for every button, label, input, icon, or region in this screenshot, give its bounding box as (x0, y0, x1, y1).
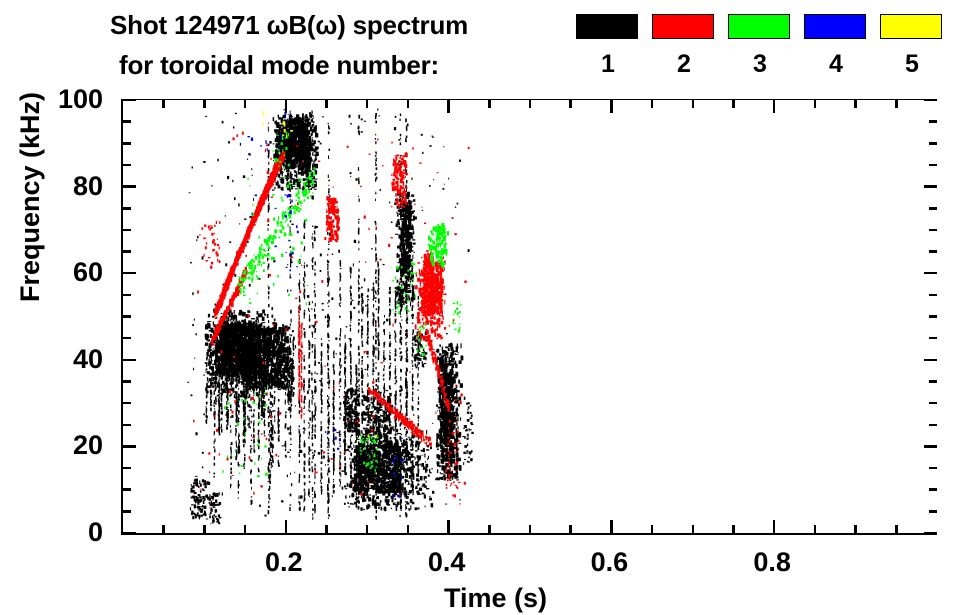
y-tick-left-45 (123, 337, 131, 340)
y-tick-left-50 (123, 315, 131, 318)
x-tick-bottom-0.90 (854, 525, 857, 533)
x-tick-bottom-0.70 (692, 525, 695, 533)
x-tick-label-0.8: 0.8 (717, 549, 827, 576)
y-tick-right-15 (929, 467, 937, 470)
x-tick-top-0.45 (488, 100, 491, 108)
x-tick-top-0.35 (407, 100, 410, 108)
x-tick-bottom-0.75 (732, 525, 735, 533)
legend-entry-mode-1: 1 (576, 14, 640, 77)
x-tick-top-0.95 (895, 100, 898, 108)
y-tick-right-70 (929, 229, 937, 232)
y-tick-left-60 (123, 272, 136, 275)
y-tick-left-65 (123, 250, 131, 253)
x-tick-top-0.90 (854, 100, 857, 108)
y-tick-left-0 (123, 532, 136, 535)
x-tick-bottom-0.45 (488, 525, 491, 533)
plot-area (121, 100, 937, 535)
x-tick-top-0.30 (366, 100, 369, 108)
x-tick-top-0.10 (203, 100, 206, 108)
x-tick-bottom-0.85 (814, 525, 817, 533)
y-tick-right-20 (924, 445, 937, 448)
legend: 12345 (576, 14, 956, 86)
y-tick-left-80 (123, 185, 136, 188)
x-tick-bottom-0.65 (651, 525, 654, 533)
x-tick-top-0.05 (162, 100, 165, 108)
x-tick-bottom-0.35 (407, 525, 410, 533)
y-tick-label-0: 0 (23, 519, 103, 546)
x-tick-top-0.20 (285, 100, 288, 113)
legend-entry-mode-4: 4 (804, 14, 868, 77)
y-tick-left-40 (123, 359, 136, 362)
y-tick-left-35 (123, 380, 131, 383)
y-tick-left-85 (123, 164, 131, 167)
y-tick-left-75 (123, 207, 131, 210)
legend-swatch-mode-3 (728, 14, 790, 39)
legend-label-mode-1: 1 (576, 51, 640, 77)
y-tick-right-95 (929, 120, 937, 123)
y-tick-left-55 (123, 294, 131, 297)
x-tick-top-0.85 (814, 100, 817, 108)
chart-title-line-2: for toroidal mode number: (119, 50, 439, 80)
y-tick-right-45 (929, 337, 937, 340)
x-tick-label-0.4: 0.4 (392, 549, 502, 576)
legend-entry-mode-5: 5 (880, 14, 944, 77)
x-tick-bottom-0.30 (366, 525, 369, 533)
x-tick-top-0.75 (732, 100, 735, 108)
y-tick-right-25 (929, 424, 937, 427)
y-tick-right-100 (924, 99, 937, 102)
y-tick-right-40 (924, 359, 937, 362)
x-tick-top-0.50 (529, 100, 532, 108)
y-tick-right-30 (929, 402, 937, 405)
x-tick-top-0.80 (773, 100, 776, 113)
y-tick-left-100 (123, 99, 136, 102)
y-tick-label-40: 40 (23, 346, 103, 373)
y-tick-right-0 (924, 532, 937, 535)
x-axis-title: Time (s) (0, 584, 963, 612)
x-tick-top-0.40 (447, 100, 450, 113)
y-tick-left-30 (123, 402, 131, 405)
y-tick-left-10 (123, 488, 131, 491)
legend-entry-mode-2: 2 (652, 14, 716, 77)
y-tick-right-50 (929, 315, 937, 318)
x-tick-label-0.6: 0.6 (554, 549, 664, 576)
y-tick-label-80: 80 (23, 173, 103, 200)
legend-entry-mode-3: 3 (728, 14, 792, 77)
x-tick-top-0.65 (651, 100, 654, 108)
x-tick-bottom-0.05 (162, 525, 165, 533)
x-tick-bottom-0.15 (244, 525, 247, 533)
legend-swatch-mode-4 (804, 14, 866, 39)
x-tick-bottom-0.20 (285, 520, 288, 533)
x-tick-top-0.25 (325, 100, 328, 108)
y-tick-right-85 (929, 164, 937, 167)
x-tick-label-0.2: 0.2 (229, 549, 339, 576)
x-tick-bottom-0.80 (773, 520, 776, 533)
y-tick-left-20 (123, 445, 136, 448)
x-axis-title-text: Time (s) (444, 584, 547, 612)
y-tick-right-75 (929, 207, 937, 210)
y-axis-title: Frequency (kHz) (16, 0, 44, 477)
chart-title-line-1: Shot 124971 ωB(ω) spectrum (110, 10, 468, 40)
x-tick-bottom-0.60 (610, 520, 613, 533)
x-tick-top-0.60 (610, 100, 613, 113)
y-tick-right-80 (924, 185, 937, 188)
y-tick-label-60: 60 (23, 259, 103, 286)
y-tick-right-65 (929, 250, 937, 253)
y-tick-right-5 (929, 510, 937, 513)
x-tick-bottom-0.50 (529, 525, 532, 533)
spectrogram-canvas (123, 100, 937, 533)
y-tick-left-70 (123, 229, 131, 232)
y-tick-left-90 (123, 142, 131, 145)
y-tick-left-25 (123, 424, 131, 427)
y-tick-left-95 (123, 120, 131, 123)
x-tick-bottom-0.10 (203, 525, 206, 533)
x-tick-top-0.70 (692, 100, 695, 108)
legend-label-mode-5: 5 (880, 51, 944, 77)
legend-label-mode-4: 4 (804, 51, 868, 77)
y-tick-left-15 (123, 467, 131, 470)
y-tick-right-90 (929, 142, 937, 145)
y-tick-right-10 (929, 488, 937, 491)
legend-label-mode-3: 3 (728, 51, 792, 77)
x-tick-bottom-0.95 (895, 525, 898, 533)
x-tick-bottom-0.55 (569, 525, 572, 533)
legend-label-mode-2: 2 (652, 51, 716, 77)
x-tick-bottom-0.40 (447, 520, 450, 533)
x-tick-bottom-0.25 (325, 525, 328, 533)
legend-swatch-mode-2 (652, 14, 714, 39)
y-tick-label-20: 20 (23, 432, 103, 459)
y-tick-label-100: 100 (23, 86, 103, 113)
legend-swatch-mode-1 (576, 14, 638, 39)
y-tick-right-60 (924, 272, 937, 275)
y-tick-right-55 (929, 294, 937, 297)
y-tick-right-35 (929, 380, 937, 383)
x-tick-top-0.15 (244, 100, 247, 108)
x-tick-top-0.55 (569, 100, 572, 108)
y-tick-left-5 (123, 510, 131, 513)
legend-swatch-mode-5 (880, 14, 942, 39)
